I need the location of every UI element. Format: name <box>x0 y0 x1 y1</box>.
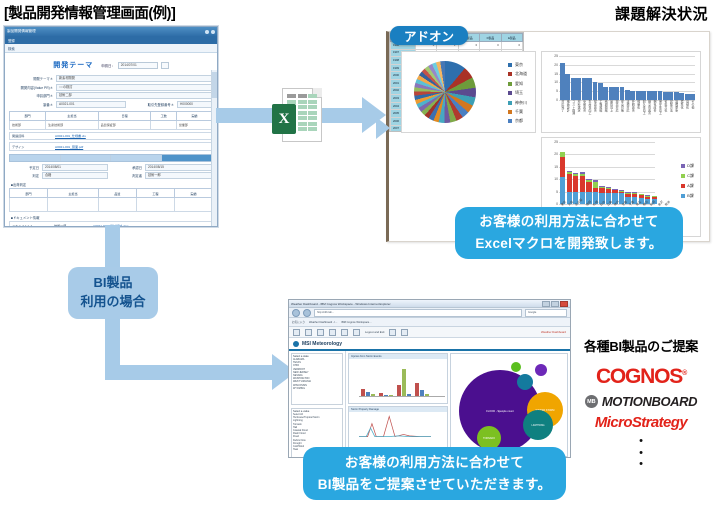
tab-evaluation[interactable] <box>162 155 213 161</box>
form-sub-grid: 部門 主担当 品質 工程 実績 <box>9 188 213 212</box>
new-icon[interactable] <box>293 329 300 336</box>
app-menu-register[interactable]: 登録 <box>8 38 15 43</box>
bar <box>636 91 641 100</box>
pie-chart <box>414 61 476 123</box>
bi-products-title: 各種BI製品のご提案 <box>568 336 714 355</box>
x-tick-label: 環境対応 <box>614 100 619 122</box>
bi-card-injuries[interactable]: Injuries from Storm Events <box>348 353 448 404</box>
microstrategy-logo: MicroStrategy <box>568 414 714 431</box>
field-input[interactable]: A0021-001 <box>56 101 126 108</box>
help-icon[interactable] <box>401 329 408 336</box>
legend-item: 東京 <box>508 62 527 68</box>
stacked-chart-y-axis: 0510152025 <box>545 142 559 204</box>
y-tick-label: 0 <box>556 202 558 206</box>
form-row: 予定日 2014/08/01 承認日 2014/08/15 <box>9 164 213 171</box>
bar <box>565 74 570 100</box>
app-search-bar[interactable]: 検索 <box>5 44 217 53</box>
favorites-bar[interactable]: お気に入り Weather Dashboard - I... IBM Cogno… <box>289 318 570 327</box>
legend-item: A課 <box>681 183 694 189</box>
bar <box>587 78 592 100</box>
field-label: 申請部門＊ <box>9 93 56 98</box>
field-label: 予定日 <box>9 165 42 170</box>
callout-bi-proposal: お客様の利用方法に合わせて BI製品をご提案させていただきます。 <box>303 447 566 500</box>
legend-item: C課 <box>681 173 694 179</box>
card-title: Injuries from Storm Events <box>349 354 447 359</box>
page-title: [製品開発情報管理画面(例)] <box>4 2 234 23</box>
field-input[interactable]: 2014/08/15 <box>145 164 213 171</box>
x-tick-label: 軽量化 <box>636 100 641 122</box>
legend-item: 愛知 <box>508 81 527 87</box>
dashboard-name-label: Weather Dashboard <box>541 330 566 334</box>
legend-label: 京都 <box>515 118 523 124</box>
bar <box>593 82 598 100</box>
x-tick-label: 歩留改善 <box>582 100 587 122</box>
x-tick-label: 標準化 <box>679 100 684 122</box>
document-dept: 技術一郎 <box>52 223 90 227</box>
legend-label: 千葉 <box>515 109 523 115</box>
section-title-shipping: ■出荷判定 <box>11 182 213 187</box>
bi-dashboard-body: Select a state ALABAMA TEXAS OHIO VERMON… <box>289 351 570 458</box>
bar-segment <box>567 174 572 191</box>
window-controls[interactable] <box>205 30 215 34</box>
pie-chart-card: 東京 北海道 愛知 埼玉 神奈川 千葉 京都 <box>401 51 536 133</box>
y-tick-label: 20 <box>554 63 558 67</box>
form-row: 開発内容(Value PR)＊ ○○の検討 <box>9 84 213 91</box>
pie-chart-legend: 東京 北海道 愛知 埼玉 神奈川 千葉 京都 <box>508 62 527 128</box>
bi-case-line2: 利用の場合 <box>80 293 145 312</box>
x-tick-label: 試験方法 <box>668 100 673 122</box>
table-cell: 0 <box>501 42 522 50</box>
legend-item: D課 <box>681 163 694 169</box>
section-heading-issue-resolution: 課題解決状況 <box>615 3 708 24</box>
card-title: Storm Property Damage <box>349 407 447 412</box>
table-cell <box>10 198 48 212</box>
column-header: 部門 <box>10 111 46 120</box>
bi-case-line1: BI製品 <box>93 274 132 293</box>
x-tick-label: 熊本 <box>664 200 671 207</box>
field-label: 判定者 <box>108 173 145 178</box>
bar-segment <box>586 182 591 192</box>
settings-icon[interactable] <box>389 329 396 336</box>
legend-item: 北海道 <box>508 71 527 77</box>
bar <box>674 92 679 100</box>
bi-bubble-chart[interactable]: FLOOD - $people count WINTER STORM LIGHT… <box>450 353 568 457</box>
back-icon[interactable] <box>292 309 300 317</box>
browser-navbar[interactable]: http://cdb.lab... Google <box>289 308 570 318</box>
table-cell: 営業部 <box>176 120 212 129</box>
y-tick-label: 15 <box>554 165 558 169</box>
bar <box>560 63 565 100</box>
cognos-toolbar[interactable]: Logout and Exit Weather Dashboard <box>289 327 570 338</box>
calendar-icon[interactable] <box>161 62 169 69</box>
legend-label: 埼玉 <box>515 90 523 96</box>
x-tick-label: 組立性改善 <box>647 100 652 122</box>
browser-search-input[interactable]: Google <box>525 309 567 317</box>
form-row: 申請部門＊ 技術二部 <box>9 92 213 99</box>
registered-mark: ® <box>682 370 686 377</box>
stacked-chart-plot: 0510152025 東京大阪名古屋福岡札幌仙台広島神戸京都千葉埼玉横浜新潟金沢… <box>545 142 697 204</box>
y-tick-label: 25 <box>554 140 558 144</box>
column-header: 実績 <box>176 111 212 120</box>
y-tick-label: 5 <box>556 89 558 93</box>
legend-item: B課 <box>681 193 694 199</box>
address-bar[interactable]: http://cdb.lab... <box>314 309 522 317</box>
motionboard-badge-icon: MB <box>585 395 598 408</box>
bi-left-column: Injuries from Storm Events Storm Propert… <box>348 353 448 457</box>
injuries-bar-chart <box>361 364 429 397</box>
browser-window-controls[interactable] <box>542 301 568 307</box>
cognos-logo-text: COGNOS <box>596 365 682 388</box>
field-input[interactable]: ○○の検討 <box>56 84 213 91</box>
bi-product-case-box: BI製品 利用の場合 <box>68 267 158 319</box>
bubble-ice[interactable] <box>535 364 547 376</box>
callout-excel-macro: お客様の利用方法に合わせて Excelマクロを開発致します。 <box>455 207 683 259</box>
field-label: 判定 <box>9 173 42 178</box>
bar-chart-y-axis: 0510152025 <box>545 56 559 100</box>
field-label: 製番＊ <box>9 102 56 107</box>
bar <box>598 83 603 100</box>
form-tabbar[interactable] <box>9 154 213 162</box>
addon-badge: アドオン <box>390 26 468 45</box>
x-tick-label: 材料選定 <box>576 100 581 122</box>
app-menubar[interactable]: 登録 <box>5 36 217 44</box>
stacked-bar <box>560 152 565 204</box>
bar-chart-series <box>560 56 695 100</box>
bar-segment <box>573 176 578 192</box>
column-header: 主担当 <box>48 189 99 198</box>
app-window-title: 製品開発情報管理 <box>7 29 36 34</box>
flow-arrow-to-bi-horizontal <box>105 365 277 380</box>
bar <box>652 91 657 100</box>
bar <box>614 87 619 100</box>
tab-result[interactable] <box>111 155 162 161</box>
x-tick-label: 構造設計 <box>565 100 570 122</box>
app-window-titlebar: 製品開発情報管理 <box>5 27 217 36</box>
form-row: 開発テーマ＊ 新素材開発 <box>9 75 213 82</box>
column-header: 工数 <box>151 111 176 120</box>
bar-chart-x-labels: 対応完了構造設計コスト削減材料選定歩留改善生産性向上検査改善工程短縮納期短縮品質… <box>560 100 695 122</box>
callout-line: お客様の利用方法に合わせて <box>345 452 524 474</box>
x-tick-label: 対応完了 <box>560 100 565 122</box>
x-tick-label: 自動化 <box>685 100 690 122</box>
legend-item: 京都 <box>508 118 527 124</box>
x-tick-label: 安全対策 <box>620 100 625 122</box>
bar <box>647 91 652 100</box>
microstrategy-logo-text: MicroStrategy <box>595 414 687 431</box>
open-icon[interactable] <box>305 329 312 336</box>
form-heading-row: 開発テーマ 申請日： 2014/07/01 <box>9 56 213 75</box>
column-header: 主担当 <box>46 111 99 120</box>
form-row: 製番＊ A0021-001 取引先登録番号＊ H000000 <box>9 101 213 108</box>
callout-line: お客様の利用方法に合わせて <box>479 211 658 233</box>
form-grid-table: 部門 主担当 日程 工数 実績 技術部 生産技術部 品質保証部 営業部 <box>9 111 213 130</box>
column-header: E製品 <box>501 34 522 42</box>
attachment-link[interactable]: A0021-001_仕様書.xls <box>52 133 86 138</box>
bi-app-header: MSI Meteorology <box>289 338 570 351</box>
ellipsis-dots: ••• <box>568 436 714 471</box>
table-header-row: 部門 主担当 日程 工数 実績 <box>10 111 213 120</box>
x-tick-label: 法規対応 <box>625 100 630 122</box>
x-tick-label: 検査改善 <box>593 100 598 122</box>
x-tick-label: 梱包改善 <box>652 100 657 122</box>
legend-label: 東京 <box>515 62 523 68</box>
column-header: 工程 <box>136 189 174 198</box>
vertical-scrollbar[interactable] <box>211 70 217 227</box>
print-icon[interactable] <box>329 329 336 336</box>
legend-label: A課 <box>687 183 694 189</box>
bar <box>609 87 614 100</box>
x-tick-label: 設備更新 <box>674 100 679 122</box>
cognos-logo: COGNOS® <box>568 365 714 389</box>
column-header: 部門 <box>10 189 48 198</box>
x-tick-label: 保守性向上 <box>658 100 663 122</box>
table-cell: 生産技術部 <box>46 120 99 129</box>
application-date-label: 申請日： <box>101 63 115 68</box>
table-cell <box>151 120 176 129</box>
x-tick-label: 金沢 <box>657 200 664 207</box>
field-label: 取引先登録番号＊ <box>126 102 177 107</box>
bi-app-name: MSI Meteorology <box>302 341 342 347</box>
application-date-input[interactable]: 2014/07/01 <box>118 62 158 69</box>
browser-titlebar: Weather Dashboard - IBM Cognos Workspace… <box>289 300 570 308</box>
legend-label: B課 <box>687 193 694 199</box>
share-icon[interactable] <box>341 329 348 336</box>
pareto-bar-chart-card: 0510152025 対応完了構造設計コスト削減材料選定歩留改善生産性向上検査改… <box>541 51 701 133</box>
table-cell <box>98 198 136 212</box>
x-tick-label: 納期短縮 <box>603 100 608 122</box>
property-damage-line-chart <box>359 415 431 437</box>
bar <box>668 92 673 100</box>
column-header: D製品 <box>480 34 502 42</box>
legend-label: 神奈川 <box>515 100 527 106</box>
tab-overview[interactable] <box>10 155 61 161</box>
field-input[interactable]: 技術二部 <box>56 92 213 99</box>
table-cell: 技術部 <box>10 120 46 129</box>
attachment-label: デザイン <box>10 144 52 149</box>
favorite-item[interactable]: IBM Cognos Workspace... <box>341 321 371 324</box>
product-dev-form-screenshot[interactable]: 製品開発情報管理 登録 検索 開発テーマ 申請日： 2014/07/01 開発テ… <box>4 26 218 227</box>
x-tick-label: 品質向上 <box>609 100 614 122</box>
application-date-group: 申請日： 2014/07/01 <box>101 62 169 69</box>
bar <box>679 93 684 100</box>
field-input[interactable]: H000000 <box>177 101 213 108</box>
attachment-link[interactable]: A0021-001_図面.pdf <box>52 144 83 149</box>
field-label: 承認日 <box>108 165 145 170</box>
table-cell <box>174 198 212 212</box>
legend-label: D課 <box>687 163 694 169</box>
callout-line: Excelマクロを開発致します。 <box>475 233 662 255</box>
column-header: 実績 <box>174 189 212 198</box>
x-tick-label: 生産性向上 <box>587 100 592 122</box>
legend-label: 愛知 <box>515 81 523 87</box>
motionboard-logo: MB MOTIONBOARD <box>568 394 714 409</box>
favorites-label[interactable]: お気に入り <box>292 320 305 324</box>
field-radio-group[interactable]: 合格 <box>42 172 108 179</box>
bar <box>603 87 608 100</box>
attachment-row[interactable]: 関連資料 A0021-001_仕様書.xls <box>9 132 213 141</box>
scrollbar-thumb[interactable] <box>212 72 217 98</box>
bar <box>663 92 668 100</box>
legend-item: 埼玉 <box>508 90 527 96</box>
legend-label: C課 <box>687 173 694 179</box>
x-tick-label: 耐久性向上 <box>641 100 646 122</box>
attachment-label: 関連資料 <box>10 133 52 138</box>
logout-and-exit-button[interactable]: Logout and Exit <box>365 330 384 334</box>
bubble-wind[interactable] <box>511 362 521 372</box>
bar <box>641 91 646 100</box>
y-tick-label: 20 <box>554 152 558 156</box>
bar <box>571 78 576 100</box>
stacked-chart-legend: D課C課A課B課 <box>681 163 694 203</box>
column-header: 日程 <box>98 111 151 120</box>
motionboard-logo-text: MOTIONBOARD <box>602 394 697 409</box>
form-row: 判定 合格 判定者 技術一郎 <box>9 172 213 179</box>
excel-x-badge: X <box>272 104 296 134</box>
field-label: 開発内容(Value PR)＊ <box>9 85 56 90</box>
bar <box>658 91 663 100</box>
bi-main-area: Injuries from Storm Events Storm Propert… <box>346 351 570 458</box>
filter-item[interactable]: WYOMING <box>293 387 341 390</box>
bar <box>620 87 625 100</box>
bi-filter-state[interactable]: Select a state ALABAMA TEXAS OHIO VERMON… <box>291 353 343 405</box>
bar <box>630 91 635 100</box>
x-tick-label: 外観改善 <box>630 100 635 122</box>
favorite-item[interactable]: Weather Dashboard - I... <box>309 321 337 324</box>
x-tick-label: 工程短縮 <box>598 100 603 122</box>
forward-icon[interactable] <box>303 309 311 317</box>
legend-item: 千葉 <box>508 109 527 115</box>
msi-logo-icon <box>293 341 299 347</box>
undo-icon[interactable] <box>353 329 360 336</box>
table-cell <box>136 198 174 212</box>
bar-segment <box>560 157 565 177</box>
table-cell: 品質保証部 <box>98 120 151 129</box>
addon-entry-arrow-icon <box>376 117 390 139</box>
y-tick-label: 5 <box>556 190 558 194</box>
table-cell: 0 <box>480 42 502 50</box>
bubble-hail[interactable] <box>517 374 533 390</box>
table-cell <box>48 198 99 212</box>
app-search-label: 検索 <box>8 46 15 51</box>
bubble-lightning[interactable]: LIGHTNING <box>523 410 553 440</box>
excel-document-icon: X <box>272 88 322 146</box>
y-tick-label: 15 <box>554 72 558 76</box>
bi-products-section: 各種BI製品のご提案 COGNOS® MB MOTIONBOARD MicroS… <box>568 336 714 471</box>
save-icon[interactable] <box>317 329 324 336</box>
y-tick-label: 0 <box>556 98 558 102</box>
chart-axis-line <box>359 396 445 397</box>
section-title-documents: ■ドキュメント情報 <box>11 215 213 220</box>
column-header: 品質 <box>98 189 136 198</box>
table-row[interactable] <box>10 198 213 212</box>
bar <box>625 90 630 100</box>
table-header-row: 部門 主担当 品質 工程 実績 <box>10 189 213 198</box>
bar-chart-plot: 0510152025 対応完了構造設計コスト削減材料選定歩留改善生産性向上検査改… <box>545 56 697 100</box>
stacked-chart-series <box>560 142 657 204</box>
tab-plan[interactable] <box>61 155 112 161</box>
x-tick-label: その他 <box>690 100 695 122</box>
attachment-row[interactable]: デザイン A0021-001_図面.pdf <box>9 142 213 151</box>
form-body: 開発テーマ 申請日： 2014/07/01 開発テーマ＊ 新素材開発 開発内容(… <box>5 53 217 227</box>
field-input[interactable]: 2014/08/01 <box>42 164 108 171</box>
document-name: ドキュメント1 <box>10 223 52 227</box>
browser-window-title: Weather Dashboard - IBM Cognos Workspace… <box>291 302 391 306</box>
y-tick-label: 10 <box>554 177 558 181</box>
y-tick-label: 10 <box>554 80 558 84</box>
bi-sidebar[interactable]: Select a state ALABAMA TEXAS OHIO VERMON… <box>289 351 346 458</box>
form-heading: 開発テーマ <box>53 60 93 70</box>
table-row[interactable]: 技術部 生産技術部 品質保証部 営業部 <box>10 120 213 129</box>
legend-label: 北海道 <box>515 71 527 77</box>
field-label: 開発テーマ＊ <box>9 76 56 81</box>
y-tick-label: 25 <box>554 54 558 58</box>
bar <box>576 78 581 100</box>
field-input[interactable]: 技術一郎 <box>145 172 213 179</box>
legend-item: 神奈川 <box>508 100 527 106</box>
x-tick-label: コスト削減 <box>571 100 576 122</box>
bi-dashboard-screenshot[interactable]: Weather Dashboard - IBM Cognos Workspace… <box>288 299 571 458</box>
bar <box>582 78 587 100</box>
bar-segment <box>580 176 585 192</box>
field-input[interactable]: 新素材開発 <box>56 75 213 82</box>
callout-line: BI製品をご提案させていただきます。 <box>318 474 552 496</box>
close-icon <box>560 301 568 307</box>
x-tick-label: 省電力化 <box>663 100 668 122</box>
